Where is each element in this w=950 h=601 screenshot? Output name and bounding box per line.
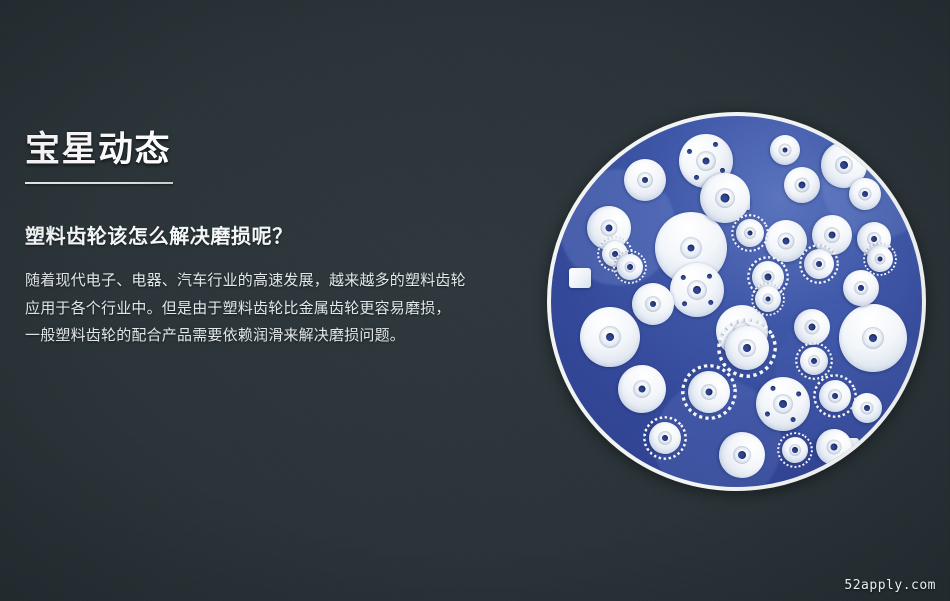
gear-bore xyxy=(703,158,710,165)
site-watermark: 52apply.com xyxy=(844,578,936,593)
plastic-gears-photo xyxy=(547,112,926,491)
page-title: 宝星动态 xyxy=(25,130,535,170)
gear-lightening-hole xyxy=(713,142,718,147)
article-body: 随着现代电子、电器、汽车行业的高速发展，越来越多的塑料齿轮 应用于各个行业中。但… xyxy=(25,267,535,350)
gear-shape xyxy=(799,244,840,285)
gear-shape xyxy=(678,361,740,423)
title-underline-rule xyxy=(25,182,173,184)
content-column: 宝星动态 塑料齿轮该怎么解决磨损呢？ 随着现代电子、电器、汽车行业的高速发展，越… xyxy=(25,130,535,350)
body-line: 一般塑料齿轮的配合产品需要依赖润滑来解决磨损问题。 xyxy=(25,322,535,350)
slide-canvas: 宝星动态 塑料齿轮该怎么解决磨损呢？ 随着现代电子、电器、汽车行业的高速发展，越… xyxy=(0,0,950,601)
body-line: 随着现代电子、电器、汽车行业的高速发展，越来越多的塑料齿轮 xyxy=(25,267,535,295)
gear-shape xyxy=(792,339,835,382)
gear-bore xyxy=(816,261,822,267)
body-line: 应用于各个行业中。但是由于塑料齿轮比金属齿轮更容易磨损， xyxy=(25,295,535,323)
gear-lightening-hole xyxy=(687,149,692,154)
gear-shape xyxy=(710,423,774,487)
article-subtitle: 塑料齿轮该怎么解决磨损呢？ xyxy=(25,220,535,249)
